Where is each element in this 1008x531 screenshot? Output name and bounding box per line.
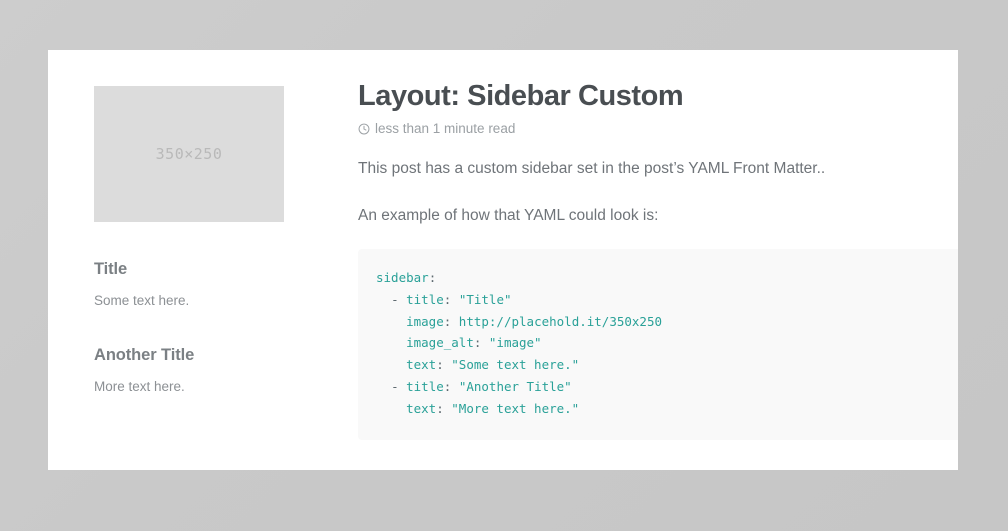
read-time-label: less than 1 minute read xyxy=(375,121,515,136)
yaml-code-block: sidebar: - title: "Title" image: http://… xyxy=(358,249,958,440)
post-paragraph: An example of how that YAML could look i… xyxy=(358,204,958,227)
post-layout: 350×250 Title Some text here. Another Ti… xyxy=(48,50,958,470)
post-content: Layout: Sidebar Custom less than 1 minut… xyxy=(358,80,958,440)
clock-icon xyxy=(358,123,370,135)
sidebar-block-title: Title xyxy=(94,260,304,279)
page-panel: 350×250 Title Some text here. Another Ti… xyxy=(48,50,958,470)
sidebar-block-2: Another Title More text here. xyxy=(94,346,304,394)
sidebar-block-1: Title Some text here. xyxy=(94,260,304,308)
sidebar-image-dimensions-label: 350×250 xyxy=(94,145,284,163)
code-line: image_alt: "image" xyxy=(376,335,542,350)
post-paragraph: This post has a custom sidebar set in th… xyxy=(358,157,958,180)
code-line: sidebar: xyxy=(376,270,436,285)
code-line: text: "More text here." xyxy=(376,401,579,416)
code-line: - title: "Title" xyxy=(376,292,512,307)
code-line: text: "Some text here." xyxy=(376,357,579,372)
post-sidebar: 350×250 Title Some text here. Another Ti… xyxy=(94,86,304,394)
read-time-meta: less than 1 minute read xyxy=(358,121,958,136)
sidebar-block-text: Some text here. xyxy=(94,293,304,308)
sidebar-block-title: Another Title xyxy=(94,346,304,365)
sidebar-block-text: More text here. xyxy=(94,379,304,394)
page-title: Layout: Sidebar Custom xyxy=(358,80,958,112)
sidebar-image-placeholder: 350×250 xyxy=(94,86,284,222)
code-line: image: http://placehold.it/350x250 xyxy=(376,314,662,329)
code-line: - title: "Another Title" xyxy=(376,379,572,394)
